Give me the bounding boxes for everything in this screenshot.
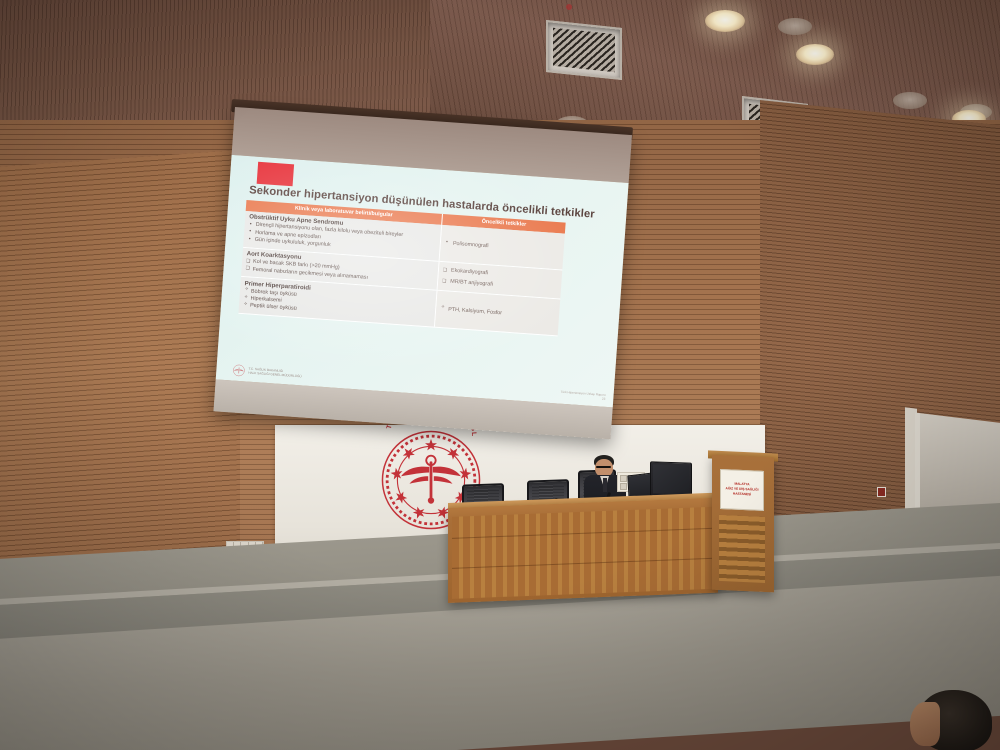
slide-footer-right: Türk Hipertansiyon Uzlaşı Raporu 23 [560, 391, 605, 402]
presentation-slide: Sekonder hipertansiyon düşünülen hastala… [216, 155, 629, 408]
podium-slat-pattern [719, 515, 765, 583]
desktop-monitor[interactable] [650, 461, 692, 497]
podium-sign-line3: HASTANESİ [733, 493, 751, 497]
projector-screen: Sekonder hipertansiyon düşünülen hastala… [213, 107, 632, 439]
ministry-logo-icon [232, 363, 246, 377]
slide-accent-square [257, 162, 294, 186]
presenter-glasses [596, 466, 611, 468]
presenter-tie [603, 478, 607, 492]
slide-table: Klinik veya laboratuvar belirti/bulgular… [238, 200, 565, 336]
desk-slat-pattern [452, 507, 714, 599]
ceiling-downlight [705, 10, 745, 32]
conference-hall-photo: TÜRKİYE CUMHURİYETİ SAĞLIK BAKANLIĞI Sek… [0, 0, 1000, 750]
test-item: PTH, Kalsiyum, Fosfor [440, 306, 555, 320]
ceiling-downlight [778, 18, 812, 35]
caduceus-icon [401, 456, 461, 504]
ceiling-downlight [893, 92, 927, 109]
lectern-podium: MALATYA AĞIZ VE DİŞ SAĞLIĞI HASTANESİ [712, 455, 774, 593]
ceiling-air-vent [546, 20, 622, 80]
podium-sign: MALATYA AĞIZ VE DİŞ SAĞLIĞI HASTANESİ [720, 469, 764, 511]
test-item: MR/BT anjiyografi [442, 278, 557, 292]
ceiling-downlight [796, 44, 834, 65]
fire-alarm-button[interactable] [877, 487, 886, 497]
panel-desk [448, 498, 718, 603]
table-cell-tests: PTH, Kalsiyum, Fosfor [435, 291, 560, 335]
test-item: Polisomnografi [445, 240, 560, 254]
sprinkler-head [566, 4, 572, 10]
slide-footer: T.C. SAĞLIK BAKANLIĞI HALK SAĞLIĞI GENEL… [232, 363, 302, 381]
audience-member-face [910, 702, 940, 746]
